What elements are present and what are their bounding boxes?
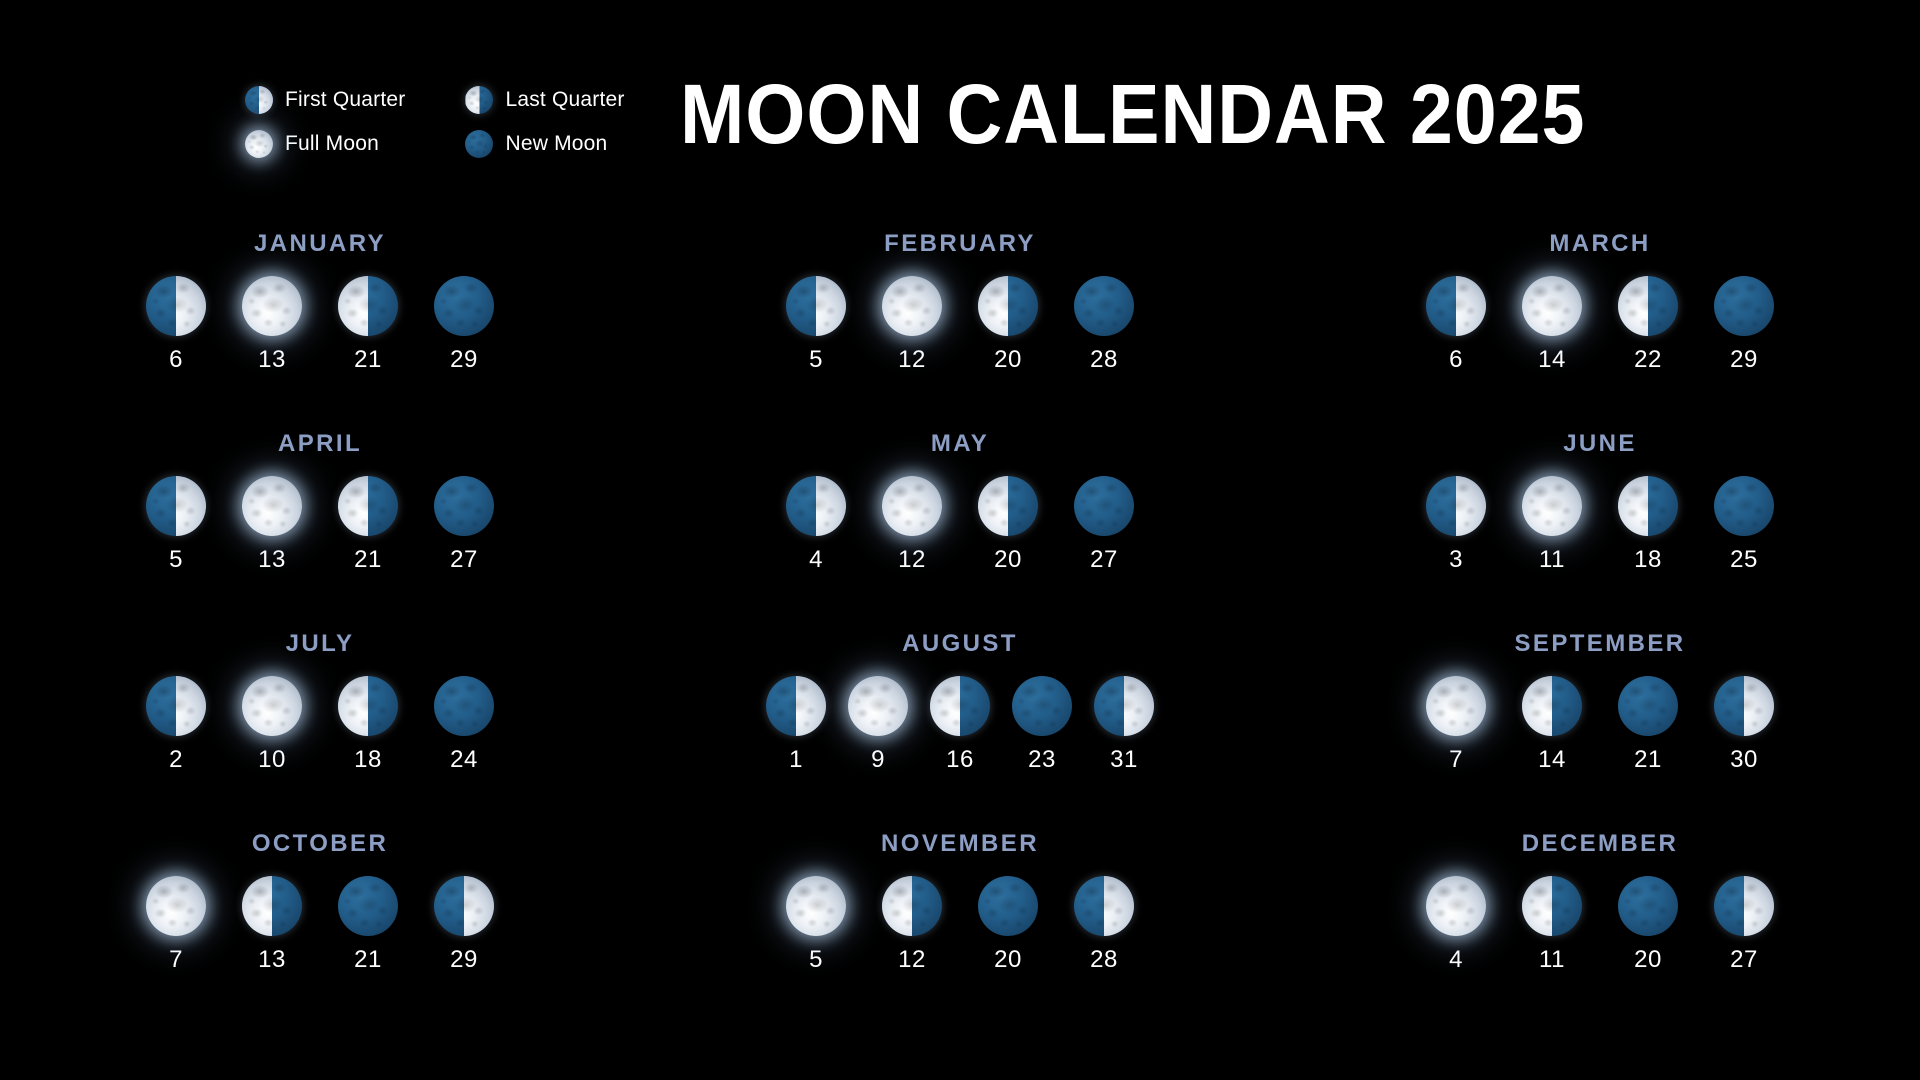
month-name-label: JUNE [1563,430,1637,458]
moon-craters [242,276,302,336]
phase-entry: 24 [434,676,494,774]
phase-day-label: 13 [258,346,286,374]
phase-entry: 21 [338,276,398,374]
month-name-label: JULY [286,630,355,658]
phase-entry: 12 [882,876,942,974]
phase-day-label: 13 [258,546,286,574]
phase-entry: 12 [882,276,942,374]
moon-craters [1714,476,1774,536]
phase-entry: 31 [1094,676,1154,774]
moon-craters [848,676,908,736]
moon-shadow-disc [434,476,494,536]
phase-day-label: 20 [1634,946,1662,974]
moon-shadow-disc [1074,276,1134,336]
moon-last-quarter-icon [1618,276,1678,336]
phase-day-label: 4 [1449,946,1463,974]
moon-new-moon-icon-legend [465,130,493,158]
moon-new-moon-icon [434,476,494,536]
phase-day-label: 31 [1110,746,1138,774]
moon-craters [434,276,494,336]
month-block-january: JANUARY6132129 [0,230,640,430]
phase-day-label: 3 [1449,546,1463,574]
phase-entry: 18 [338,676,398,774]
moon-craters [1522,276,1582,336]
phase-day-label: 13 [258,946,286,974]
moon-craters [242,676,302,736]
phase-day-label: 11 [1539,546,1565,574]
phase-day-label: 7 [1449,746,1463,774]
moon-calendar-poster: First QuarterLast QuarterFull MoonNew Mo… [0,0,1920,1080]
moon-first-quarter-icon [146,476,206,536]
phase-day-label: 1 [789,746,803,774]
phase-row: 2101824 [146,676,494,774]
moon-shadow-disc [434,676,494,736]
phase-row: 19162331 [766,676,1154,774]
phase-row: 5122028 [786,876,1134,974]
moon-first-quarter-icon [786,476,846,536]
phase-entry: 1 [766,676,826,774]
phase-entry: 22 [1618,276,1678,374]
phase-day-label: 9 [871,746,885,774]
phase-entry: 13 [242,876,302,974]
phase-day-label: 12 [898,346,926,374]
moon-lit-region [242,476,302,536]
phase-day-label: 10 [258,746,286,774]
month-name-label: MAY [931,430,989,458]
phase-entry: 7 [146,876,206,974]
moon-craters [434,476,494,536]
moon-craters [1074,476,1134,536]
phase-entry: 12 [882,476,942,574]
moon-shadow-disc [1012,676,1072,736]
moon-lit-region [1522,476,1582,536]
moon-first-quarter-icon [1426,476,1486,536]
moon-lit-region [1426,676,1486,736]
month-block-april: APRIL5132127 [0,430,640,630]
moon-full-moon-icon [882,476,942,536]
moon-new-moon-icon [1012,676,1072,736]
phase-day-label: 16 [946,746,974,774]
moon-lit-region [1522,276,1582,336]
legend-label: Full Moon [285,132,379,156]
phase-row: 5122028 [786,276,1134,374]
moon-lit-region [146,876,206,936]
phase-day-label: 5 [809,946,823,974]
moon-lit-region [245,130,273,158]
legend-item-last-quarter: Last Quarter [465,86,624,114]
phase-entry: 20 [978,876,1038,974]
phase-entry: 13 [242,476,302,574]
phase-day-label: 20 [994,346,1022,374]
phase-day-label: 29 [450,946,478,974]
phase-row: 7142130 [1426,676,1774,774]
moon-first-quarter-icon [146,676,206,736]
month-block-february: FEBRUARY5122028 [640,230,1280,430]
phase-entry: 21 [1618,676,1678,774]
moon-craters [1618,676,1678,736]
phase-day-label: 12 [898,946,926,974]
moon-first-quarter-icon [434,876,494,936]
phase-day-label: 5 [169,546,183,574]
moon-first-quarter-icon [766,676,826,736]
phase-day-label: 4 [809,546,823,574]
moon-lit-region [848,676,908,736]
moon-new-moon-icon [1714,276,1774,336]
calendar-grid: JANUARY6132129FEBRUARY5122028MARCH614222… [0,230,1920,1080]
moon-new-moon-icon [1618,876,1678,936]
moon-last-quarter-icon-legend [465,86,493,114]
legend-label: First Quarter [285,88,405,112]
month-name-label: FEBRUARY [884,230,1036,258]
phase-day-label: 5 [809,346,823,374]
month-block-may: MAY4122027 [640,430,1280,630]
moon-full-moon-icon [786,876,846,936]
month-name-label: NOVEMBER [881,830,1039,858]
moon-new-moon-icon [978,876,1038,936]
phase-day-label: 28 [1090,346,1118,374]
phase-entry: 20 [978,276,1038,374]
phase-entry: 27 [1074,476,1134,574]
moon-last-quarter-icon [978,476,1038,536]
legend-item-first-quarter: First Quarter [245,86,405,114]
moon-craters [1426,876,1486,936]
moon-lit-region [786,876,846,936]
moon-new-moon-icon [1618,676,1678,736]
phase-entry: 6 [146,276,206,374]
moon-full-moon-icon [1426,876,1486,936]
moon-craters [242,476,302,536]
moon-shadow-disc [1714,476,1774,536]
phase-day-label: 30 [1730,746,1758,774]
phase-entry: 4 [786,476,846,574]
phase-day-label: 27 [1730,946,1758,974]
month-block-october: OCTOBER7132129 [0,830,640,1030]
moon-craters [146,876,206,936]
month-name-label: SEPTEMBER [1515,630,1686,658]
phase-entry: 13 [242,276,302,374]
moon-full-moon-icon-legend [245,130,273,158]
phase-day-label: 2 [169,746,183,774]
phase-day-label: 7 [169,946,183,974]
month-block-september: SEPTEMBER7142130 [1280,630,1920,830]
moon-craters [434,676,494,736]
moon-full-moon-icon [1522,276,1582,336]
phase-entry: 29 [1714,276,1774,374]
moon-first-quarter-icon [1714,676,1774,736]
phase-entry: 6 [1426,276,1486,374]
moon-craters [1012,676,1072,736]
month-block-december: DECEMBER4112027 [1280,830,1920,1030]
phase-day-label: 21 [1634,746,1662,774]
phase-entry: 30 [1714,676,1774,774]
moon-shadow-disc [1618,876,1678,936]
moon-shadow-disc [978,876,1038,936]
moon-new-moon-icon [338,876,398,936]
moon-craters [1426,676,1486,736]
moon-last-quarter-icon [1618,476,1678,536]
phase-day-label: 20 [994,546,1022,574]
moon-last-quarter-icon [1522,876,1582,936]
moon-shadow-disc [434,276,494,336]
moon-craters [882,276,942,336]
phase-day-label: 18 [354,746,382,774]
moon-last-quarter-icon [978,276,1038,336]
moon-full-moon-icon [242,676,302,736]
moon-first-quarter-icon [786,276,846,336]
moon-craters [1618,876,1678,936]
phase-day-label: 21 [354,546,382,574]
phase-entry: 3 [1426,476,1486,574]
phase-row: 6132129 [146,276,494,374]
phase-entry: 21 [338,476,398,574]
moon-lit-region [1426,876,1486,936]
month-block-august: AUGUST19162331 [640,630,1280,830]
moon-shadow-disc [465,130,493,158]
phase-entry: 14 [1522,676,1582,774]
phase-row: 5132127 [146,476,494,574]
month-name-label: AUGUST [902,630,1018,658]
phase-day-label: 6 [169,346,183,374]
month-block-march: MARCH6142229 [1280,230,1920,430]
phase-entry: 5 [786,276,846,374]
phase-entry: 18 [1618,476,1678,574]
moon-new-moon-icon [1714,476,1774,536]
month-block-july: JULY2101824 [0,630,640,830]
month-name-label: OCTOBER [252,830,388,858]
phase-day-label: 29 [1730,346,1758,374]
moon-lit-region [882,276,942,336]
phase-entry: 20 [978,476,1038,574]
moon-first-quarter-icon [146,276,206,336]
moon-full-moon-icon [1426,676,1486,736]
phase-legend: First QuarterLast QuarterFull MoonNew Mo… [245,86,625,158]
moon-craters [1074,276,1134,336]
phase-day-label: 28 [1090,946,1118,974]
moon-new-moon-icon [1074,276,1134,336]
moon-last-quarter-icon [1522,676,1582,736]
phase-entry: 14 [1522,276,1582,374]
legend-item-full-moon: Full Moon [245,130,405,158]
moon-first-quarter-icon-legend [245,86,273,114]
moon-craters [786,876,846,936]
moon-craters [978,876,1038,936]
legend-label: New Moon [505,132,607,156]
phase-entry: 28 [1074,876,1134,974]
moon-first-quarter-icon [1426,276,1486,336]
moon-full-moon-icon [242,276,302,336]
moon-full-moon-icon [146,876,206,936]
moon-shadow-disc [1618,676,1678,736]
moon-first-quarter-icon [1714,876,1774,936]
moon-full-moon-icon [242,476,302,536]
phase-entry: 20 [1618,876,1678,974]
moon-last-quarter-icon [338,276,398,336]
phase-day-label: 6 [1449,346,1463,374]
moon-craters [1714,276,1774,336]
month-name-label: MARCH [1549,230,1650,258]
phase-entry: 28 [1074,276,1134,374]
month-name-label: APRIL [278,430,362,458]
phase-entry: 27 [434,476,494,574]
phase-day-label: 23 [1028,746,1056,774]
moon-shadow-disc [338,876,398,936]
phase-entry: 7 [1426,676,1486,774]
phase-entry: 29 [434,876,494,974]
moon-new-moon-icon [434,276,494,336]
moon-first-quarter-icon [1094,676,1154,736]
phase-entry: 11 [1522,876,1582,974]
phase-entry: 29 [434,276,494,374]
phase-day-label: 25 [1730,546,1758,574]
month-name-label: DECEMBER [1522,830,1679,858]
moon-shadow-disc [1714,276,1774,336]
moon-craters [882,476,942,536]
phase-entry: 27 [1714,876,1774,974]
phase-entry: 21 [338,876,398,974]
moon-full-moon-icon [848,676,908,736]
moon-craters [338,876,398,936]
phase-day-label: 24 [450,746,478,774]
phase-day-label: 20 [994,946,1022,974]
legend-item-new-moon: New Moon [465,130,624,158]
phase-day-label: 14 [1538,346,1566,374]
phase-entry: 4 [1426,876,1486,974]
phase-row: 7132129 [146,876,494,974]
phase-entry: 11 [1522,476,1582,574]
moon-craters [245,130,273,158]
moon-last-quarter-icon [338,476,398,536]
moon-last-quarter-icon [338,676,398,736]
phase-row: 6142229 [1426,276,1774,374]
page-title: MOON CALENDAR 2025 [680,72,1609,156]
phase-day-label: 11 [1539,946,1565,974]
phase-day-label: 12 [898,546,926,574]
phase-day-label: 14 [1538,746,1566,774]
month-block-november: NOVEMBER5122028 [640,830,1280,1030]
phase-row: 4112027 [1426,876,1774,974]
moon-lit-region [242,276,302,336]
phase-day-label: 27 [450,546,478,574]
phase-row: 4122027 [786,476,1134,574]
month-name-label: JANUARY [254,230,386,258]
phase-day-label: 18 [1634,546,1662,574]
moon-last-quarter-icon [242,876,302,936]
phase-entry: 16 [930,676,990,774]
phase-day-label: 29 [450,346,478,374]
moon-new-moon-icon [434,676,494,736]
phase-entry: 25 [1714,476,1774,574]
legend-label: Last Quarter [505,88,624,112]
phase-day-label: 21 [354,346,382,374]
poster-header: First QuarterLast QuarterFull MoonNew Mo… [0,0,1920,200]
phase-entry: 5 [786,876,846,974]
phase-entry: 10 [242,676,302,774]
phase-day-label: 22 [1634,346,1662,374]
phase-day-label: 27 [1090,546,1118,574]
moon-last-quarter-icon [930,676,990,736]
phase-row: 3111825 [1426,476,1774,574]
moon-shadow-disc [1074,476,1134,536]
moon-new-moon-icon [1074,476,1134,536]
moon-craters [465,130,493,158]
moon-lit-region [882,476,942,536]
moon-last-quarter-icon [882,876,942,936]
moon-first-quarter-icon [1074,876,1134,936]
phase-entry: 9 [848,676,908,774]
month-block-june: JUNE3111825 [1280,430,1920,630]
moon-full-moon-icon [882,276,942,336]
moon-full-moon-icon [1522,476,1582,536]
moon-lit-region [242,676,302,736]
phase-entry: 5 [146,476,206,574]
moon-craters [1522,476,1582,536]
phase-entry: 23 [1012,676,1072,774]
phase-entry: 2 [146,676,206,774]
phase-day-label: 21 [354,946,382,974]
